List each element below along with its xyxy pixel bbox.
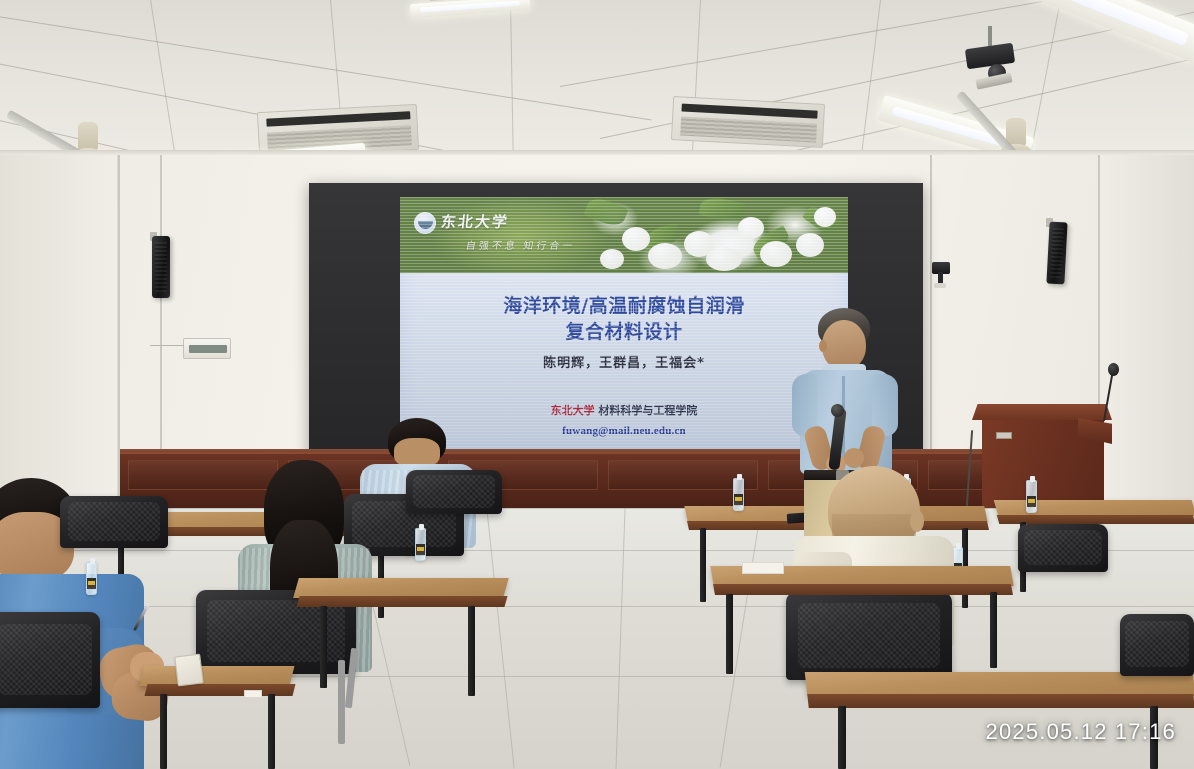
affiliation-school: 材料科学与工程学院 bbox=[595, 404, 698, 417]
projector-scanlines bbox=[400, 197, 848, 449]
slide-affiliation: 东北大学 材料科学与工程学院 bbox=[400, 402, 848, 418]
wall-camera-mount bbox=[934, 283, 946, 288]
notebook[interactable] bbox=[174, 654, 203, 687]
water-bottle[interactable] bbox=[86, 562, 97, 595]
chair[interactable] bbox=[1018, 524, 1108, 572]
ac-control-panel[interactable] bbox=[183, 338, 231, 359]
water-bottle[interactable] bbox=[733, 478, 744, 511]
chair[interactable] bbox=[406, 470, 502, 514]
wall-speaker-right bbox=[1046, 222, 1067, 285]
water-bottle[interactable] bbox=[415, 528, 426, 561]
podium-microphone-icon bbox=[1108, 363, 1119, 376]
timestamp-overlay: 2025.05.12 17:16 bbox=[986, 719, 1176, 745]
affiliation-university: 东北大学 bbox=[551, 404, 595, 417]
water-bottle[interactable] bbox=[1026, 480, 1037, 513]
neu-logo-text: 东北大学 bbox=[440, 211, 510, 232]
chair[interactable] bbox=[0, 612, 100, 708]
slide-title-line-1: 海洋环境/高温耐腐蚀自润滑 bbox=[400, 293, 848, 319]
air-conditioner-vent bbox=[671, 96, 825, 148]
wall-speaker-left bbox=[152, 236, 170, 298]
table-row bbox=[293, 578, 509, 598]
chair[interactable] bbox=[1120, 614, 1194, 676]
table-label bbox=[244, 690, 262, 698]
table-row bbox=[140, 666, 295, 686]
slide-header-image: 东北大学 自强不息 知行合一 bbox=[400, 197, 848, 273]
chair[interactable] bbox=[786, 592, 952, 680]
handout-paper[interactable] bbox=[742, 562, 784, 574]
podium-desktop bbox=[972, 404, 1112, 420]
fluorescent-light bbox=[1026, 0, 1194, 62]
presentation-slide[interactable]: 东北大学 自强不息 知行合一 海洋环境/高温耐腐蚀自润滑 复合材料设计 陈明辉，… bbox=[400, 197, 848, 449]
wall-right-column bbox=[1100, 150, 1194, 550]
slide-title: 海洋环境/高温耐腐蚀自润滑 复合材料设计 bbox=[400, 293, 848, 345]
podium-nameplate bbox=[996, 432, 1012, 439]
lecture-room-photo: 东北大学 自强不息 知行合一 海洋环境/高温耐腐蚀自润滑 复合材料设计 陈明辉，… bbox=[0, 0, 1194, 769]
neu-logo-icon bbox=[414, 212, 436, 234]
table-row bbox=[994, 500, 1194, 516]
chair[interactable] bbox=[60, 496, 168, 548]
presenter-head bbox=[822, 320, 866, 370]
ac-panel-display bbox=[189, 345, 227, 353]
fluorescent-light bbox=[410, 0, 531, 18]
neu-motto: 自强不息 知行合一 bbox=[465, 237, 577, 252]
slide-title-line-2: 复合材料设计 bbox=[400, 319, 848, 345]
slide-authors: 陈明辉，王群昌，王福会* bbox=[400, 352, 848, 371]
